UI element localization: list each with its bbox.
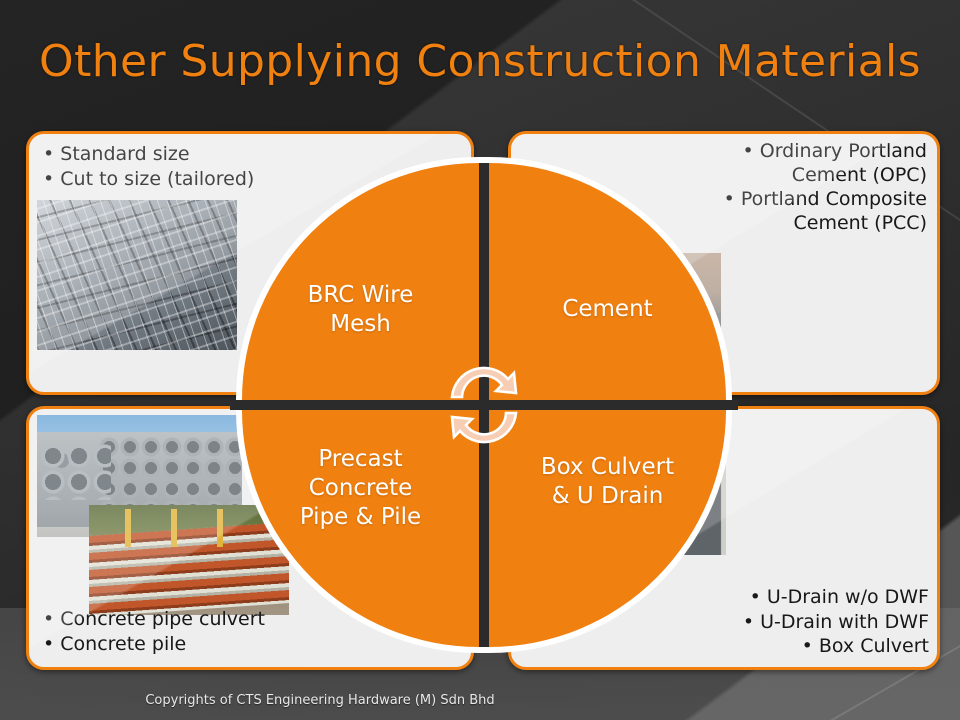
- list-item: • Standard size: [43, 142, 254, 167]
- segment-label-brc: BRC Wire Mesh: [242, 281, 479, 339]
- segment-label-line: & U Drain: [489, 482, 726, 511]
- recycle-arrows-icon: [434, 355, 534, 455]
- list-item-continuation: Cement (OPC): [724, 164, 927, 188]
- list-item: • U-Drain w/o DWF: [743, 585, 929, 610]
- bullet-list-culvert: • U-Drain w/o DWF • U-Drain with DWF • B…: [743, 585, 929, 659]
- center-split-circle: BRC Wire Mesh Cement Precast Concrete Pi…: [242, 163, 726, 647]
- segment-label-line: Cement: [489, 295, 726, 324]
- list-item: • Box Culvert: [743, 634, 929, 659]
- list-item: • Concrete pile: [43, 632, 265, 657]
- bullet-marker: •: [43, 633, 54, 655]
- slide-canvas: Other Supplying Construction Materials •…: [0, 0, 960, 720]
- list-item: • Cut to size (tailored): [43, 167, 254, 192]
- wire-mesh-texture: [37, 200, 237, 350]
- segment-label-line: Box Culvert: [489, 453, 726, 482]
- bullet-marker: •: [742, 140, 753, 162]
- bullet-marker: •: [802, 635, 813, 657]
- bullet-marker: •: [43, 168, 54, 190]
- segment-label-line: BRC Wire: [242, 281, 479, 310]
- bullet-marker: •: [750, 586, 761, 608]
- segment-label-line: Mesh: [242, 310, 479, 339]
- bullet-list-cement: • Ordinary Portland Cement (OPC) • Portl…: [724, 140, 927, 236]
- segment-label-cement: Cement: [489, 295, 726, 324]
- segment-label-box-culvert: Box Culvert & U Drain: [489, 453, 726, 511]
- brc-wire-mesh-photo: [37, 200, 237, 350]
- page-title: Other Supplying Construction Materials: [0, 36, 960, 87]
- list-item: • Ordinary Portland: [724, 140, 927, 164]
- list-item: • Portland Composite: [724, 188, 927, 212]
- bullet-marker: •: [43, 608, 54, 630]
- bullet-marker: •: [43, 143, 54, 165]
- bullet-list-brc: • Standard size • Cut to size (tailored): [43, 142, 254, 192]
- yellow-posts: [125, 509, 253, 546]
- pipe-openings-grid-left: [41, 444, 111, 500]
- bullet-marker: •: [743, 611, 754, 633]
- segment-label-line: Concrete: [242, 474, 479, 503]
- segment-label-line: Pipe & Pile: [242, 503, 479, 532]
- footer-copyright: Copyrights of CTS Engineering Hardware (…: [0, 693, 640, 708]
- list-item: • U-Drain with DWF: [743, 610, 929, 635]
- bullet-list-precast: • Concrete pipe culvert • Concrete pile: [43, 607, 265, 657]
- segment-label-precast: Precast Concrete Pipe & Pile: [242, 445, 479, 532]
- list-item-continuation: Cement (PCC): [724, 212, 927, 236]
- list-item: • Concrete pipe culvert: [43, 607, 265, 632]
